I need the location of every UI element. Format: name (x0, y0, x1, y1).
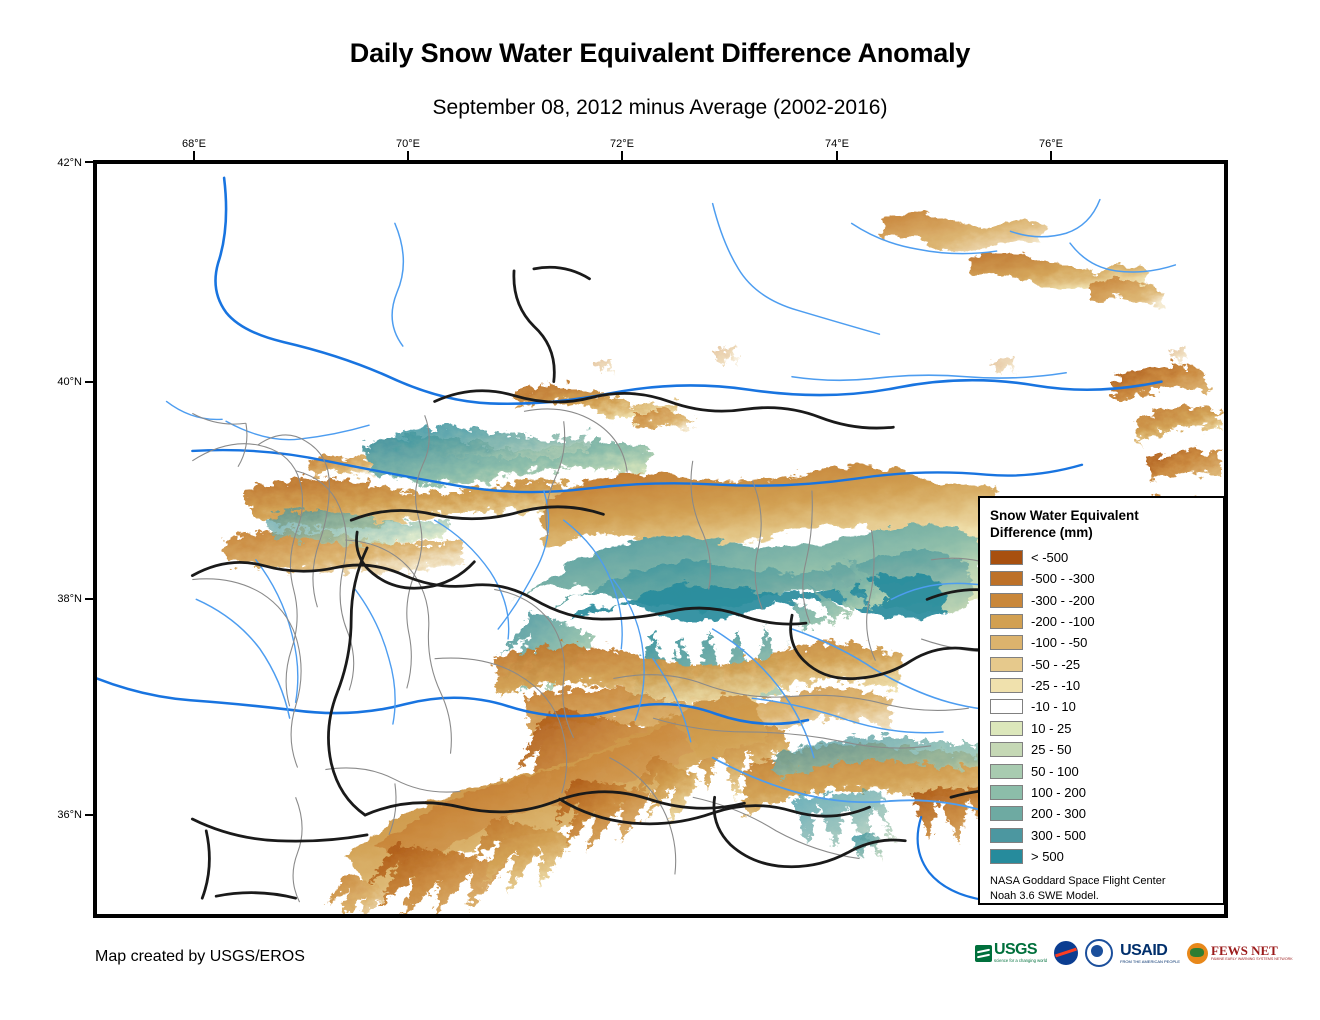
tick-x-mark (836, 151, 838, 160)
legend-label: > 500 (1031, 849, 1064, 864)
tick-y-mark (85, 814, 94, 816)
legend-label: 50 - 100 (1031, 764, 1079, 779)
legend-swatch (990, 785, 1023, 800)
map-legend: Snow Water Equivalent Difference (mm) < … (978, 496, 1225, 905)
usaid-logo: USAID FROM THE AMERICAN PEOPLE (1120, 938, 1180, 968)
legend-label: -300 - -200 (1031, 593, 1095, 608)
tick-y-mark (85, 161, 94, 163)
page-subtitle: September 08, 2012 minus Average (2002-2… (0, 96, 1320, 120)
tick-x-label: 68°E (182, 138, 206, 150)
legend-swatch (990, 657, 1023, 672)
legend-swatch (990, 764, 1023, 779)
tick-x-label: 74°E (825, 138, 849, 150)
legend-swatch (990, 721, 1023, 736)
legend-row: 300 - 500 (990, 825, 1213, 846)
legend-row: 200 - 300 (990, 803, 1213, 824)
fewsnet-logo-tagline: FAMINE EARLY WARNING SYSTEMS NETWORK (1211, 958, 1293, 962)
legend-swatch (990, 571, 1023, 586)
legend-swatch (990, 678, 1023, 693)
usgs-logo: USGS science for a changing world (975, 938, 1047, 968)
tick-x-mark (1050, 151, 1052, 160)
legend-label: < -500 (1031, 550, 1068, 565)
legend-label: -25 - -10 (1031, 678, 1080, 693)
legend-swatch (990, 849, 1023, 864)
tick-y-mark (85, 381, 94, 383)
legend-credit: NASA Goddard Space Flight Center Noah 3.… (990, 874, 1213, 903)
legend-row: 100 - 200 (990, 782, 1213, 803)
agency-seal-icon (1085, 939, 1113, 967)
legend-class-list: < -500-500 - -300-300 - -200-200 - -100-… (990, 547, 1213, 868)
usgs-logo-tagline: science for a changing world (994, 959, 1047, 963)
legend-swatch (990, 593, 1023, 608)
tick-y-label: 42°N (57, 157, 82, 169)
legend-row: > 500 (990, 846, 1213, 867)
legend-label: -10 - 10 (1031, 699, 1076, 714)
legend-label: -50 - -25 (1031, 657, 1080, 672)
page-title: Daily Snow Water Equivalent Difference A… (0, 38, 1320, 69)
legend-label: -100 - -50 (1031, 635, 1087, 650)
legend-swatch (990, 742, 1023, 757)
tick-x-mark (407, 151, 409, 160)
globe-icon (1187, 943, 1208, 964)
footer-credit: Map created by USGS/EROS (95, 948, 305, 966)
nasa-logo (1054, 938, 1078, 968)
usgs-wave-icon (975, 945, 992, 962)
tick-y-label: 40°N (57, 376, 82, 388)
legend-row: -10 - 10 (990, 696, 1213, 717)
legend-row: -25 - -10 (990, 675, 1213, 696)
legend-swatch (990, 699, 1023, 714)
legend-label: -500 - -300 (1031, 571, 1095, 586)
legend-row: -300 - -200 (990, 589, 1213, 610)
legend-label: 100 - 200 (1031, 785, 1086, 800)
legend-row: -200 - -100 (990, 611, 1213, 632)
legend-row: 10 - 25 (990, 718, 1213, 739)
legend-row: 25 - 50 (990, 739, 1213, 760)
legend-row: -50 - -25 (990, 653, 1213, 674)
legend-label: -200 - -100 (1031, 614, 1095, 629)
legend-label: 200 - 300 (1031, 806, 1086, 821)
legend-swatch (990, 806, 1023, 821)
legend-swatch (990, 635, 1023, 650)
tick-y-mark (85, 598, 94, 600)
usaid-logo-text: USAID (1120, 943, 1180, 959)
legend-row: -500 - -300 (990, 568, 1213, 589)
legend-label: 25 - 50 (1031, 742, 1071, 757)
usgs-logo-text: USGS (994, 942, 1047, 958)
legend-swatch (990, 550, 1023, 565)
legend-row: < -500 (990, 547, 1213, 568)
legend-swatch (990, 828, 1023, 843)
legend-swatch (990, 614, 1023, 629)
legend-label: 300 - 500 (1031, 828, 1086, 843)
tick-x-label: 70°E (396, 138, 420, 150)
tick-x-mark (621, 151, 623, 160)
usaid-logo-tagline: FROM THE AMERICAN PEOPLE (1120, 960, 1180, 964)
tick-x-label: 76°E (1039, 138, 1063, 150)
fewsnet-logo: FEWS NET FAMINE EARLY WARNING SYSTEMS NE… (1187, 938, 1293, 968)
tick-x-mark (193, 151, 195, 160)
legend-label: 10 - 25 (1031, 721, 1071, 736)
legend-title: Snow Water Equivalent Difference (mm) (990, 507, 1213, 542)
tick-x-label: 72°E (610, 138, 634, 150)
nasa-meatball-icon (1054, 941, 1078, 965)
noaa-logo (1085, 938, 1113, 968)
tick-y-label: 36°N (57, 809, 82, 821)
tick-y-label: 38°N (57, 593, 82, 605)
legend-row: 50 - 100 (990, 760, 1213, 781)
fewsnet-logo-text: FEWS NET (1211, 944, 1293, 957)
logo-bar: USGS science for a changing world USAID … (975, 936, 1293, 970)
legend-row: -100 - -50 (990, 632, 1213, 653)
